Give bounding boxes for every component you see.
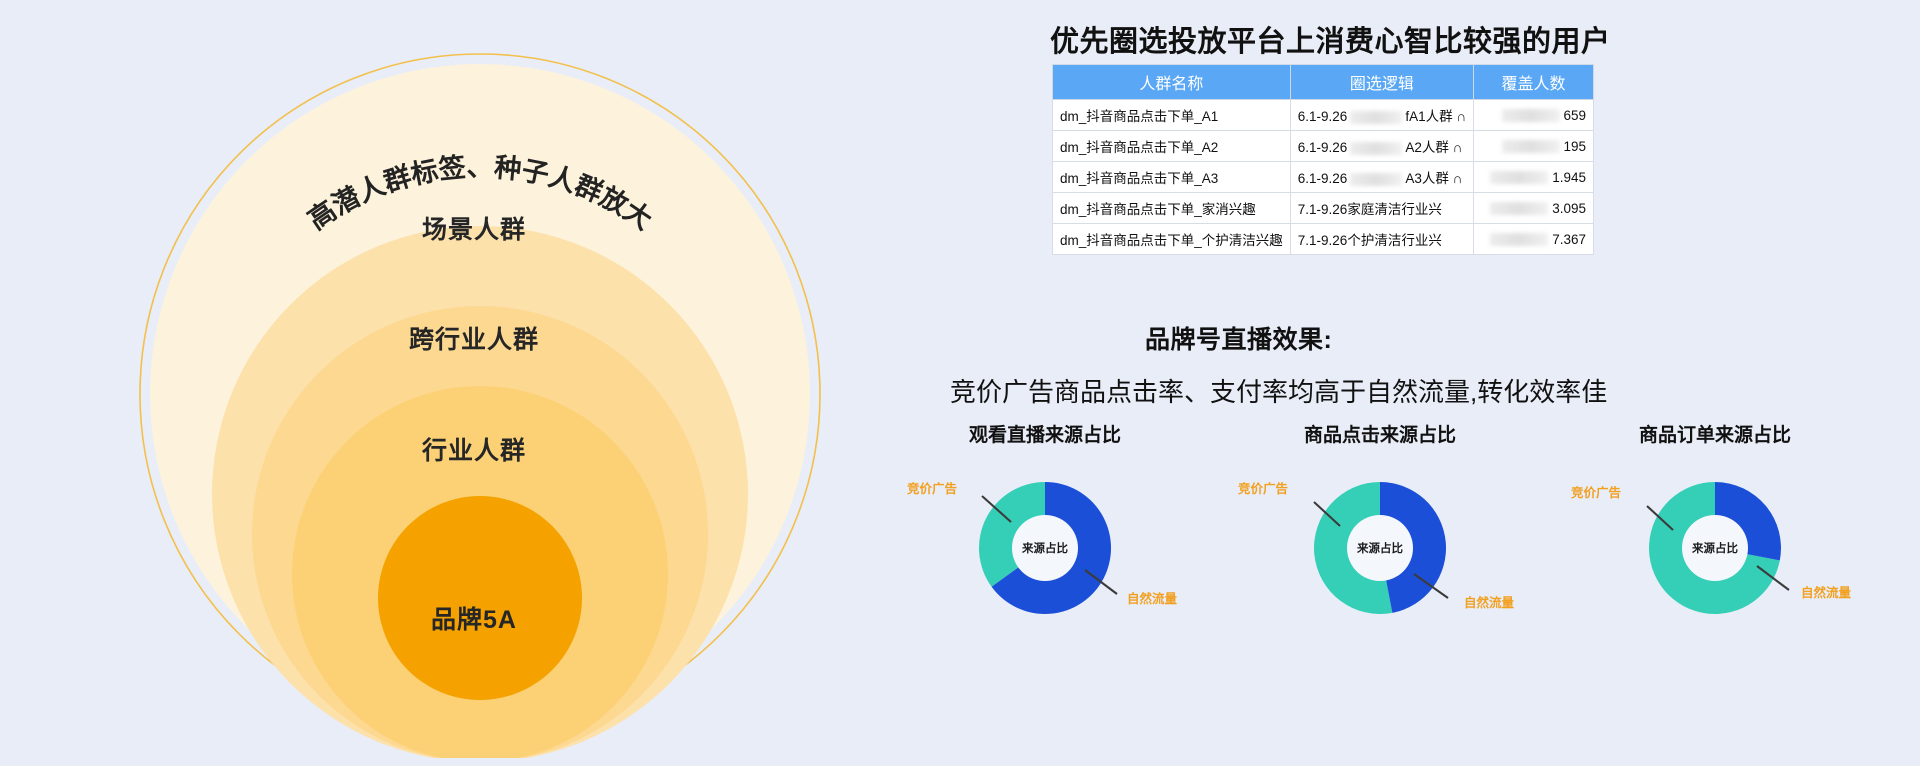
redaction-blur: xxxx	[1350, 142, 1402, 155]
donut-title: 观看直播来源占比	[880, 420, 1210, 447]
col-header-logic: 圈选逻辑	[1290, 65, 1473, 100]
cell-coverage: xxxx659	[1474, 100, 1594, 131]
cell-coverage: xxxx3.095	[1474, 193, 1594, 224]
col-header-name: 人群名称	[1053, 65, 1291, 100]
crowd-table-body: dm_抖音商品点击下单_A1 6.1-9.26xxxxfA1人群 ∩ xxxx6…	[1053, 100, 1594, 255]
donut-title: 商品订单来源占比	[1550, 420, 1880, 447]
redaction-blur: xxxx	[1502, 140, 1560, 153]
donut-svg: 来源占比 竞价广告 自然流量	[880, 461, 1210, 636]
core-brand-5a[interactable]	[378, 496, 582, 700]
cell-name: dm_抖音商品点击下单_A2	[1053, 131, 1291, 162]
donut-chart-row: 观看直播来源占比 来源占比 竞价广告 自然流量 商品点击来源占比	[860, 420, 1920, 660]
logic-prefix: 7.1-9.26个护清洁行业兴	[1298, 233, 1442, 248]
cell-name: dm_抖音商品点击下单_A1	[1053, 100, 1291, 131]
logic-suffix: fA1人群 ∩	[1405, 109, 1466, 124]
coverage-suffix: 659	[1564, 108, 1587, 123]
cell-name: dm_抖音商品点击下单_家消兴趣	[1053, 193, 1291, 224]
right-panel: 优先圈选投放平台上消费心智比较强的用户 人群名称 圈选逻辑 覆盖人数 dm_抖音…	[860, 0, 1920, 766]
callout-label-organic: 自然流量	[1127, 591, 1178, 606]
cell-coverage: xxxx7.367	[1474, 224, 1594, 255]
coverage-suffix: 3.095	[1552, 201, 1586, 216]
cell-name: dm_抖音商品点击下单_A3	[1053, 162, 1291, 193]
cell-coverage: xxxx1.945	[1474, 162, 1594, 193]
logic-prefix: 6.1-9.26	[1298, 140, 1348, 155]
redaction-blur: xxxx	[1350, 111, 1402, 124]
label-brand-5a: 品牌5A	[431, 600, 517, 636]
page-title: 优先圈选投放平台上消费心智比较强的用户	[1050, 18, 1611, 60]
logic-prefix: 6.1-9.26	[1298, 171, 1348, 186]
table-row[interactable]: dm_抖音商品点击下单_A2 6.1-9.26xxxxA2人群 ∩ xxxx19…	[1053, 131, 1594, 162]
donut-chart-watch-live: 观看直播来源占比 来源占比 竞价广告 自然流量	[880, 420, 1210, 636]
redaction-blur: xxxx	[1490, 202, 1548, 215]
cell-logic: 6.1-9.26xxxxA2人群 ∩	[1290, 131, 1473, 162]
audience-layers-diagram: 高潜人群标签、种子人群放大 场景人群 跨行业人群 行业人群 品牌5A	[100, 28, 860, 758]
donut-svg: 来源占比 竞价广告 自然流量	[1215, 461, 1545, 636]
donut-svg: 来源占比 竞价广告 自然流量	[1550, 461, 1880, 636]
table-row[interactable]: dm_抖音商品点击下单_A3 6.1-9.26xxxxA3人群 ∩ xxxx1.…	[1053, 162, 1594, 193]
donut-center-label: 来源占比	[1691, 541, 1738, 555]
redaction-blur: xxxx	[1490, 233, 1548, 246]
table-row[interactable]: dm_抖音商品点击下单_A1 6.1-9.26xxxxfA1人群 ∩ xxxx6…	[1053, 100, 1594, 131]
redaction-blur: xxxx	[1490, 171, 1548, 184]
logic-prefix: 7.1-9.26家庭清洁行业兴	[1298, 202, 1442, 217]
live-effect-subtitle: 竞价广告商品点击率、支付率均高于自然流量,转化效率佳	[950, 372, 1607, 409]
cell-logic: 7.1-9.26个护清洁行业兴	[1290, 224, 1473, 255]
cell-logic: 7.1-9.26家庭清洁行业兴	[1290, 193, 1473, 224]
venn-svg: 高潜人群标签、种子人群放大	[100, 28, 860, 758]
cell-logic: 6.1-9.26xxxxA3人群 ∩	[1290, 162, 1473, 193]
donut-center-label: 来源占比	[1021, 541, 1068, 555]
callout-label-organic: 自然流量	[1464, 595, 1515, 610]
crowd-table-wrapper: 人群名称 圈选逻辑 覆盖人数 dm_抖音商品点击下单_A1 6.1-9.26xx…	[1052, 64, 1594, 255]
callout-label-paid-ads: 竞价广告	[907, 481, 958, 496]
coverage-suffix: 195	[1564, 139, 1587, 154]
live-effect-title: 品牌号直播效果:	[1145, 320, 1332, 356]
coverage-suffix: 7.367	[1552, 232, 1586, 247]
label-industry-crowd: 行业人群	[422, 431, 526, 467]
crowd-table: 人群名称 圈选逻辑 覆盖人数 dm_抖音商品点击下单_A1 6.1-9.26xx…	[1052, 64, 1594, 255]
callout-label-paid-ads: 竞价广告	[1571, 485, 1622, 500]
donut-chart-product-click: 商品点击来源占比 来源占比 竞价广告 自然流量	[1215, 420, 1545, 636]
callout-label-organic: 自然流量	[1801, 585, 1852, 600]
label-scene-crowd: 场景人群	[422, 210, 526, 246]
cell-coverage: xxxx195	[1474, 131, 1594, 162]
redaction-blur: xxxx	[1350, 173, 1402, 186]
callout-label-paid-ads: 竞价广告	[1238, 481, 1289, 496]
cell-logic: 6.1-9.26xxxxfA1人群 ∩	[1290, 100, 1473, 131]
donut-chart-product-order: 商品订单来源占比 来源占比 竞价广告 自然流量	[1550, 420, 1880, 636]
cell-name: dm_抖音商品点击下单_个护清洁兴趣	[1053, 224, 1291, 255]
logic-suffix: A3人群 ∩	[1405, 171, 1462, 186]
coverage-suffix: 1.945	[1552, 170, 1586, 185]
donut-title: 商品点击来源占比	[1215, 420, 1545, 447]
table-row[interactable]: dm_抖音商品点击下单_家消兴趣 7.1-9.26家庭清洁行业兴 xxxx3.0…	[1053, 193, 1594, 224]
redaction-blur: xxxx	[1502, 109, 1560, 122]
donut-center-label: 来源占比	[1356, 541, 1403, 555]
logic-prefix: 6.1-9.26	[1298, 109, 1348, 124]
logic-suffix: A2人群 ∩	[1405, 140, 1462, 155]
col-header-coverage: 覆盖人数	[1474, 65, 1594, 100]
label-cross-industry-crowd: 跨行业人群	[409, 320, 539, 356]
table-row[interactable]: dm_抖音商品点击下单_个护清洁兴趣 7.1-9.26个护清洁行业兴 xxxx7…	[1053, 224, 1594, 255]
table-header-row: 人群名称 圈选逻辑 覆盖人数	[1053, 65, 1594, 100]
slide-canvas: 高潜人群标签、种子人群放大 场景人群 跨行业人群 行业人群 品牌5A 优先圈选投…	[0, 0, 1920, 766]
